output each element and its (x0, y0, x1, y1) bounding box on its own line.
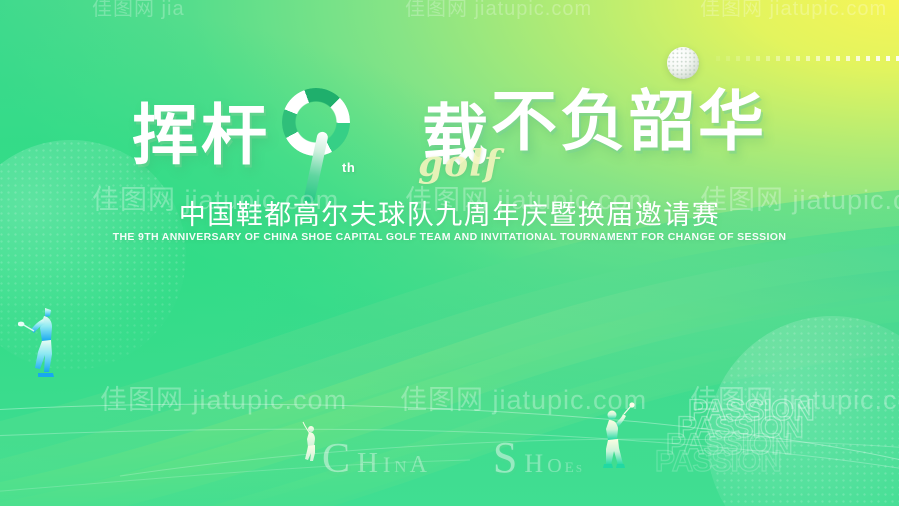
passion-line: PASSION (655, 447, 781, 477)
poster-canvas: CHINASHOES PASSIONPASSIONPASSIONPASSION (0, 0, 899, 506)
watermark-tile: 佳图网 jiatupic.com (405, 0, 592, 21)
dotted-trail-icon (716, 56, 899, 61)
golf-ball-icon (667, 47, 699, 79)
golfer-silhouette-mid-icon (296, 421, 322, 461)
watermark-tile: 佳图网 jiatupic.com (92, 178, 339, 217)
watermark-tile: 佳图网 jiatupic.com (100, 378, 347, 417)
watermark-tile: 佳图网 jiatupic.com (405, 178, 652, 217)
watermark-tile: 佳图网 jiatupic.com (400, 378, 647, 417)
watermark-tile: 佳图网 jiatupic.com (700, 0, 887, 21)
watermark-tile: 佳图网 jiatupic.com (700, 178, 899, 217)
watermark-tile: 佳图网 jia (92, 0, 185, 21)
watermark-tile: 佳图网 jiatupic.com (690, 378, 899, 417)
subtitle-english: THE 9TH ANNIVERSARY OF CHINA SHOE CAPITA… (0, 231, 899, 243)
golfer-silhouette-left-icon (18, 305, 64, 377)
